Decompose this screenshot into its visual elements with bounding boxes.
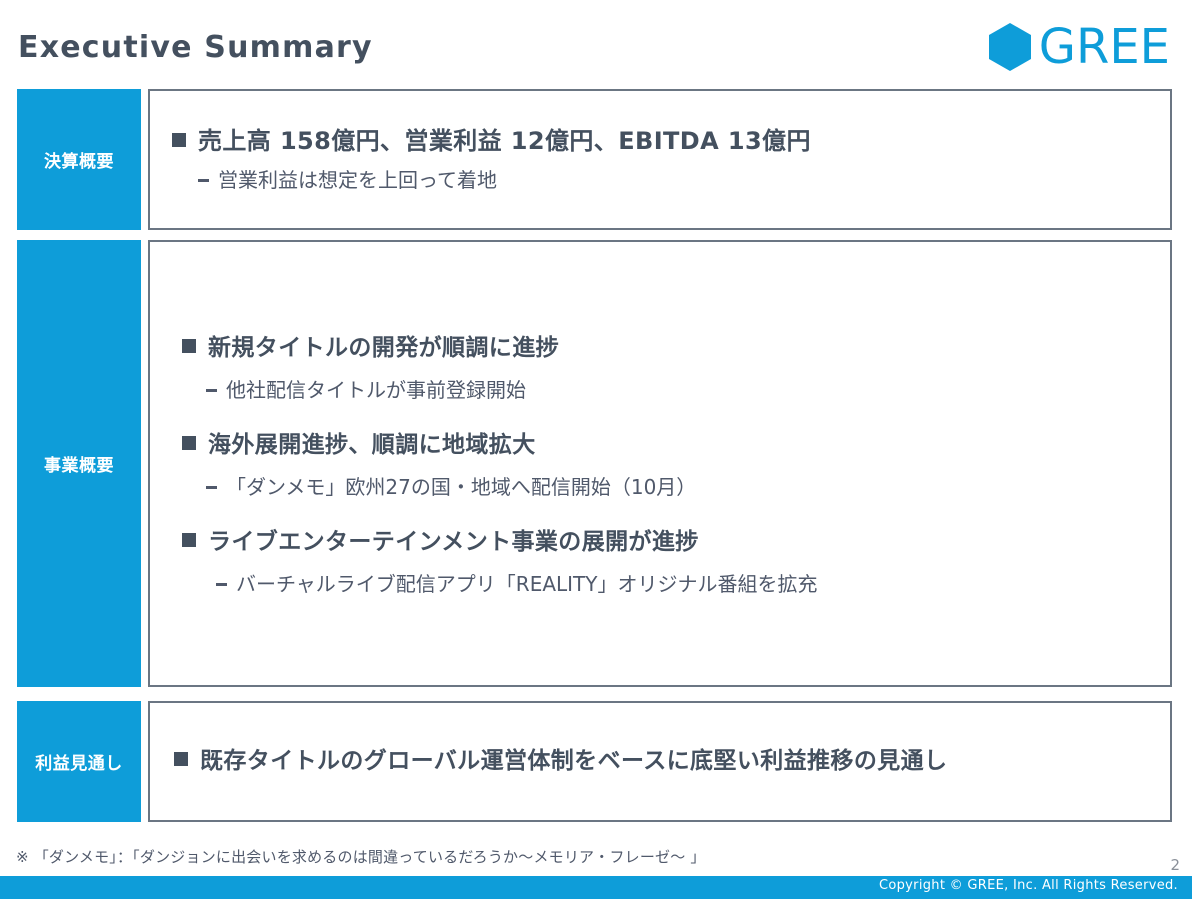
dash-bullet-icon — [206, 486, 217, 489]
page-title: Executive Summary — [18, 30, 373, 65]
bullet-main: 新規タイトルの開発が順調に進捗 — [182, 333, 1170, 364]
bullet-main: 売上高 158億円、営業利益 12億円、EBITDA 13億円 — [172, 125, 1170, 157]
bullet-main: 海外展開進捗、順調に地域拡大 — [182, 430, 1170, 461]
square-bullet-icon — [182, 533, 196, 547]
square-bullet-icon — [182, 339, 196, 353]
bullet-group: 既存タイトルのグローバル運営体制をベースに底堅い利益推移の見通し — [150, 746, 1170, 777]
bullet-block: 海外展開進捗、順調に地域拡大 「ダンメモ」欧州27の国・地域へ配信開始（10月） — [182, 430, 1170, 501]
section-label-business: 事業概要 — [17, 240, 141, 687]
bullet-sub-text: 営業利益は想定を上回って着地 — [218, 166, 497, 194]
bullet-main-text: 売上高 158億円、営業利益 12億円、EBITDA 13億円 — [198, 125, 811, 157]
section-body-financial: 売上高 158億円、営業利益 12億円、EBITDA 13億円 営業利益は想定を… — [148, 89, 1172, 230]
bullet-sub-text: 他社配信タイトルが事前登録開始 — [226, 376, 526, 404]
bullet-sub: バーチャルライブ配信アプリ「REALITY」オリジナル番組を拡充 — [182, 570, 1170, 598]
section-label-outlook: 利益見通し — [17, 701, 141, 822]
dash-bullet-icon — [198, 179, 209, 182]
square-bullet-icon — [174, 752, 188, 766]
slide-header: Executive Summary GREE — [0, 0, 1192, 88]
section-label-financial: 決算概要 — [17, 89, 141, 230]
hexagon-icon — [987, 22, 1033, 72]
bullet-main-text: 既存タイトルのグローバル運営体制をベースに底堅い利益推移の見通し — [200, 746, 947, 777]
gree-logo: GREE — [987, 22, 1170, 72]
square-bullet-icon — [182, 436, 196, 450]
section-body-outlook: 既存タイトルのグローバル運営体制をベースに底堅い利益推移の見通し — [148, 701, 1172, 822]
section-business: 事業概要 新規タイトルの開発が順調に進捗 他社配信タイトルが事前登録開始 海外展… — [17, 240, 1172, 687]
bullet-main: 既存タイトルのグローバル運営体制をベースに底堅い利益推移の見通し — [174, 746, 1170, 777]
bullet-main: ライブエンターテインメント事業の展開が進捗 — [182, 527, 1170, 558]
footer-copyright: Copyright © GREE, Inc. All Rights Reserv… — [879, 878, 1178, 893]
section-outlook: 利益見通し 既存タイトルのグローバル運営体制をベースに底堅い利益推移の見通し — [17, 701, 1172, 822]
section-body-business: 新規タイトルの開発が順調に進捗 他社配信タイトルが事前登録開始 海外展開進捗、順… — [148, 240, 1172, 687]
bullet-main-text: ライブエンターテインメント事業の展開が進捗 — [208, 527, 699, 558]
bullet-main-text: 新規タイトルの開発が順調に進捗 — [208, 333, 559, 364]
page-number: 2 — [1170, 856, 1180, 874]
dash-bullet-icon — [206, 389, 217, 392]
square-bullet-icon — [172, 133, 186, 147]
bullet-block: 新規タイトルの開発が順調に進捗 他社配信タイトルが事前登録開始 — [182, 333, 1170, 404]
footnote: ※ 「ダンメモ」：「ダンジョンに出会いを求めるのは間違っているだろうか〜メモリア… — [16, 846, 706, 867]
bullet-sub: 営業利益は想定を上回って着地 — [172, 166, 1170, 194]
dash-bullet-icon — [216, 583, 227, 586]
bullet-sub-text: 「ダンメモ」欧州27の国・地域へ配信開始（10月） — [226, 473, 696, 501]
bullet-group: 新規タイトルの開発が順調に進捗 他社配信タイトルが事前登録開始 海外展開進捗、順… — [150, 329, 1170, 598]
bullet-main-text: 海外展開進捗、順調に地域拡大 — [208, 430, 536, 461]
bullet-sub: 他社配信タイトルが事前登録開始 — [182, 376, 1170, 404]
bullet-group: 売上高 158億円、営業利益 12億円、EBITDA 13億円 営業利益は想定を… — [150, 125, 1170, 193]
bullet-block: ライブエンターテインメント事業の展開が進捗 バーチャルライブ配信アプリ「REAL… — [182, 527, 1170, 598]
bullet-sub-text: バーチャルライブ配信アプリ「REALITY」オリジナル番組を拡充 — [236, 570, 818, 598]
bullet-sub: 「ダンメモ」欧州27の国・地域へ配信開始（10月） — [182, 473, 1170, 501]
gree-wordmark: GREE — [1039, 23, 1170, 71]
section-financial: 決算概要 売上高 158億円、営業利益 12億円、EBITDA 13億円 営業利… — [17, 89, 1172, 230]
